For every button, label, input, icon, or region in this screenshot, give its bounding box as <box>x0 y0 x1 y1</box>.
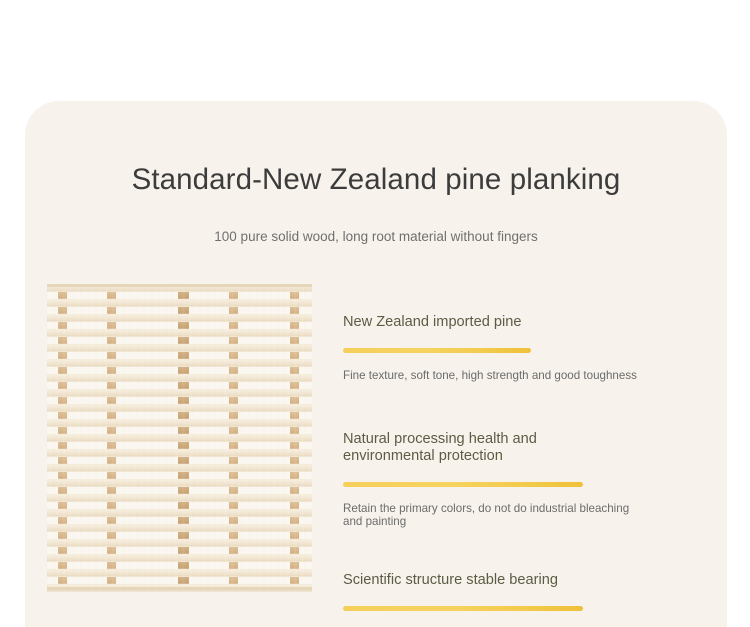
wooden-slat-bed-base-image <box>47 284 312 592</box>
feature-block-2: Natural processing health and environmen… <box>343 414 713 529</box>
bottom-rail <box>47 587 312 590</box>
feature-underline-3 <box>343 606 583 611</box>
batten-4 <box>229 284 238 592</box>
page-subtitle: 100 pure solid wood, long root material … <box>25 229 727 244</box>
batten-3 <box>178 284 189 592</box>
feature-block-1: New Zealand imported pine Fine texture, … <box>343 297 713 383</box>
vertical-battens <box>47 284 312 592</box>
feature-underline-2 <box>343 482 583 487</box>
batten-2 <box>107 284 116 592</box>
feature-underline-1 <box>343 348 531 353</box>
feature-body-2: Retain the primary colors, do not do ind… <box>343 502 713 529</box>
top-rail <box>47 284 312 287</box>
feature-heading-2: Natural processing health and environmen… <box>343 414 537 482</box>
batten-1 <box>58 284 67 592</box>
feature-block-3: Scientific structure stable bearing Long… <box>343 555 713 627</box>
batten-5 <box>290 284 299 592</box>
feature-heading-3: Scientific structure stable bearing <box>343 555 558 606</box>
feature-heading-2-text: Natural processing health and environmen… <box>343 431 537 464</box>
feature-list: New Zealand imported pine Fine texture, … <box>343 297 713 627</box>
feature-heading-3-text: Scientific structure stable bearing <box>343 572 558 588</box>
feature-heading-1-text: New Zealand imported pine <box>343 314 521 330</box>
page-title: Standard-New Zealand pine planking <box>25 163 727 197</box>
feature-body-1: Fine texture, soft tone, high strength a… <box>343 369 713 383</box>
slat-frame <box>47 284 312 592</box>
product-info-card: Standard-New Zealand pine planking 100 p… <box>25 101 727 627</box>
feature-heading-1: New Zealand imported pine <box>343 297 521 348</box>
